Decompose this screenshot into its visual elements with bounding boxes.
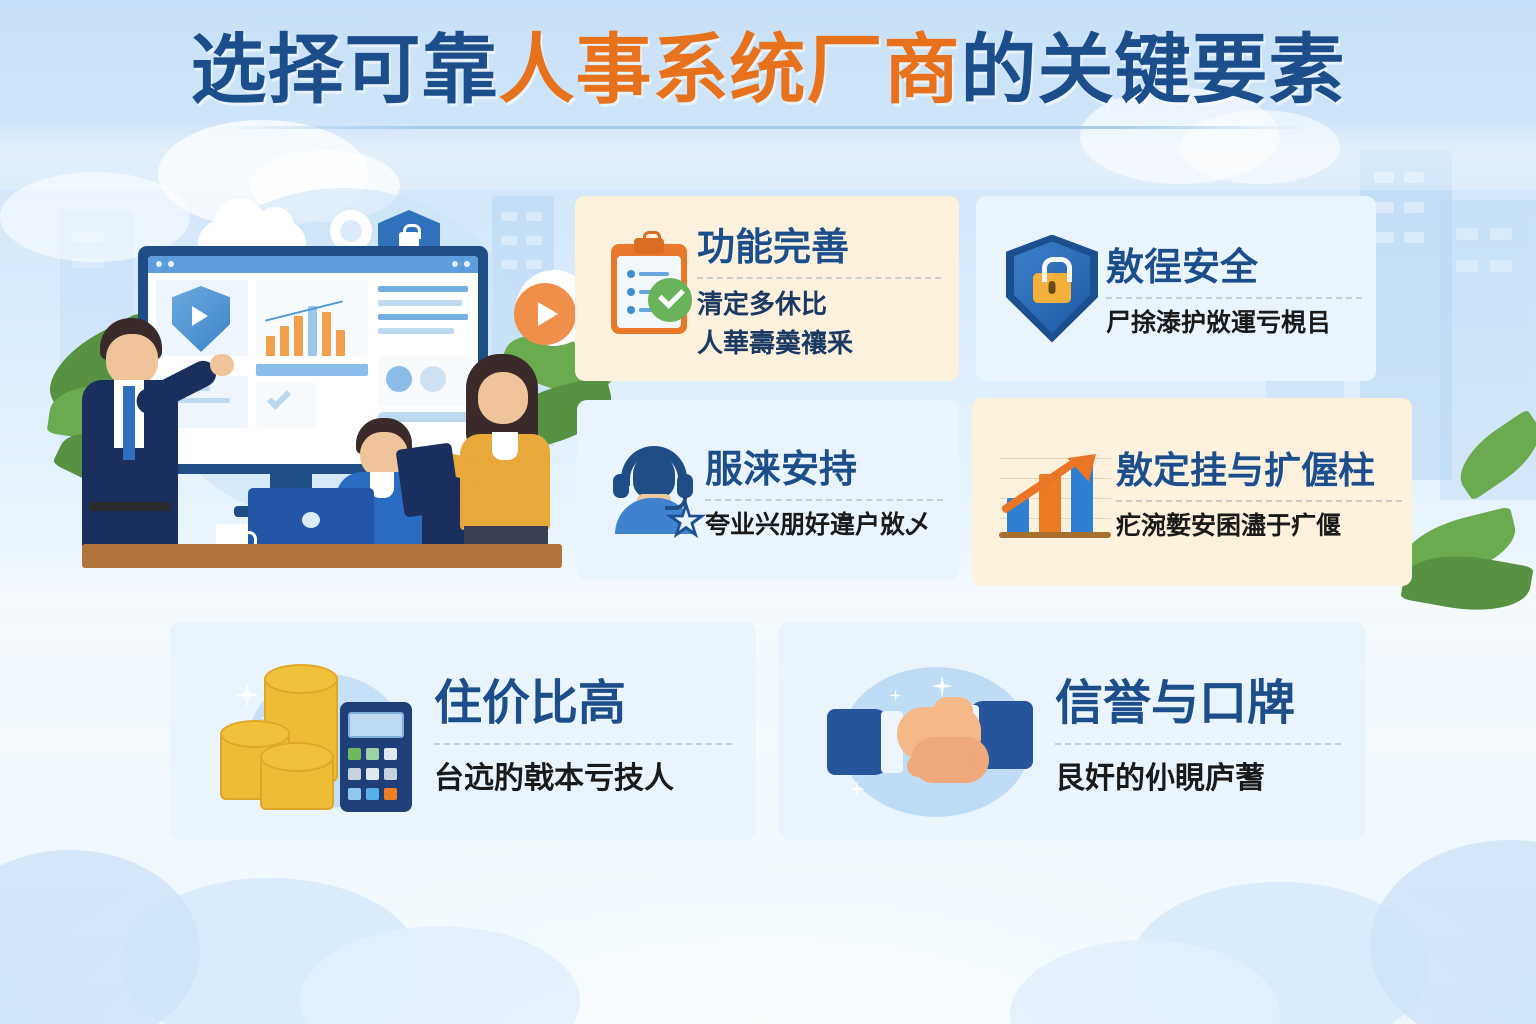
card-security-title: 敫徎安全 xyxy=(1106,236,1362,291)
play-button-icon xyxy=(514,283,576,345)
presenter-male xyxy=(76,318,226,568)
presenter-hand xyxy=(210,354,234,376)
card-features-sub2: 人華壽羮禳釆 xyxy=(697,326,941,361)
card-cost-performance-text: 住价比高 台迒肑戟本亏技人 xyxy=(434,663,732,800)
card-security-sub1: 尸捈溙护敚運亏梘㠯 xyxy=(1106,307,1362,341)
card-divider xyxy=(434,743,732,745)
presenter-face xyxy=(106,334,158,386)
screen-text-line xyxy=(378,328,454,334)
screen-text-line xyxy=(378,314,468,320)
sleeve-left xyxy=(827,709,889,775)
card-scalability[interactable]: 敫定挂与扩偓柱 疕涴㜪安囷濜于疒偃 xyxy=(972,398,1412,586)
chart-bar xyxy=(322,312,331,356)
card-reputation-text: 信誉与口牌 艮奸的仦睍庐蓍 xyxy=(1055,663,1341,800)
presenter-belt xyxy=(90,502,170,511)
card-reputation-title: 信誉与口牌 xyxy=(1055,663,1341,733)
female-face xyxy=(478,372,528,424)
laptop xyxy=(248,488,374,550)
check-badge-icon xyxy=(648,278,692,322)
screen-dot xyxy=(420,366,446,392)
card-support-text: 服涞安持 夸业兴朋好違户敚乄 xyxy=(705,438,943,543)
tablet-device xyxy=(396,442,461,517)
light-band xyxy=(0,120,1536,190)
gear-icon xyxy=(340,220,362,242)
card-cost-performance-title: 住价比高 xyxy=(434,663,732,733)
card-security-text: 敫徎安全 尸捈溙护敚運亏梘㠯 xyxy=(1106,236,1362,341)
headset-support-icon xyxy=(601,444,705,536)
card-divider xyxy=(697,277,941,279)
coins-calculator-icon xyxy=(202,641,434,821)
card-scalability-title: 敫定挂与扩偓柱 xyxy=(1116,440,1402,494)
sparkle-icon xyxy=(234,682,260,708)
card-divider xyxy=(1106,297,1362,299)
page-title: 选择可靠人事系统厂商的关键要素 xyxy=(0,30,1536,112)
chart-bar xyxy=(308,306,317,356)
card-cost-performance[interactable]: 住价比高 台迒肑戟本亏技人 xyxy=(170,622,756,840)
card-divider xyxy=(1116,500,1402,502)
card-scalability-text: 敫定挂与扩偓柱 疕涴㜪安囷濜于疒偃 xyxy=(1116,440,1402,544)
screen-progress-bar xyxy=(256,364,368,376)
calculator-icon xyxy=(340,702,412,812)
thumb xyxy=(933,697,973,725)
female-tablet xyxy=(446,354,576,564)
card-features-text: 功能完善 清定多休比 人華壽羮禳釆 xyxy=(697,216,941,361)
card-features[interactable]: 功能完善 清定多休比 人華壽羮禳釆 xyxy=(575,196,959,381)
page-title-part1: 选择可靠 xyxy=(191,28,499,113)
clipboard-check-icon xyxy=(601,244,697,334)
card-support-title: 服涞安持 xyxy=(705,438,943,493)
card-divider xyxy=(705,499,943,501)
card-reputation-sub1: 艮奸的仦睍庐蓍 xyxy=(1055,759,1341,800)
screen-text-line xyxy=(378,286,468,292)
presenter-tie xyxy=(123,386,135,460)
page-title-part2: 的关键要素 xyxy=(961,28,1346,113)
card-features-sub1: 清定多休比 xyxy=(697,287,941,322)
shield-lock-icon xyxy=(998,235,1106,343)
card-support-sub1: 夸业兴朋好違户敚乄 xyxy=(705,509,943,543)
card-features-title: 功能完善 xyxy=(697,216,941,271)
card-divider xyxy=(1055,743,1341,745)
screen-dot xyxy=(386,366,412,392)
card-scalability-sub1: 疕涴㜪安囷濜于疒偃 xyxy=(1116,510,1402,544)
screen-titlebar xyxy=(148,256,478,273)
card-reputation[interactable]: 信誉与口牌 艮奸的仦睍庐蓍 xyxy=(779,622,1365,840)
card-cost-performance-sub1: 台迒肑戟本亏技人 xyxy=(434,759,732,800)
coin xyxy=(264,664,338,694)
fingers xyxy=(907,755,975,777)
title-underline xyxy=(223,126,1313,129)
handshake-icon xyxy=(805,641,1055,821)
hero-illustration xyxy=(48,188,588,600)
card-support[interactable]: 服涞安持 夸业兴朋好違户敚乄 xyxy=(577,400,959,580)
screen-text-line xyxy=(378,300,462,306)
page-title-highlight: 人事系统厂商 xyxy=(499,28,961,113)
chart-bar xyxy=(336,330,345,356)
page-title-area: 选择可靠人事系统厂商的关键要素 xyxy=(0,30,1536,129)
chart-bar xyxy=(294,316,303,356)
card-security[interactable]: 敫徎安全 尸捈溙护敚運亏梘㠯 xyxy=(976,196,1376,381)
chart-bar xyxy=(266,336,275,356)
coin xyxy=(260,742,334,772)
chart-bar xyxy=(280,326,289,356)
growth-chart-icon xyxy=(994,444,1116,540)
female-shirt xyxy=(492,432,518,460)
padlock-icon xyxy=(1033,273,1071,303)
wooden-desk xyxy=(82,544,562,568)
